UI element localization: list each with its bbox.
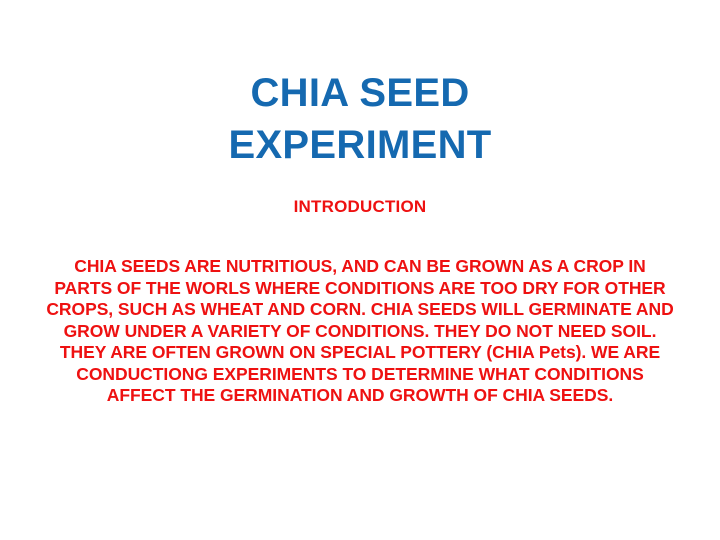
introduction-paragraph: CHIA SEEDS ARE NUTRITIOUS, AND CAN BE GR… [45, 256, 675, 407]
presentation-slide: CHIA SEED EXPERIMENT INTRODUCTION CHIA S… [0, 0, 720, 540]
slide-body-block: INTRODUCTION CHIA SEEDS ARE NUTRITIOUS, … [45, 196, 675, 407]
slide-title: CHIA SEED EXPERIMENT [0, 67, 720, 171]
heading-body-spacer [45, 218, 675, 256]
section-heading-introduction: INTRODUCTION [45, 196, 675, 218]
